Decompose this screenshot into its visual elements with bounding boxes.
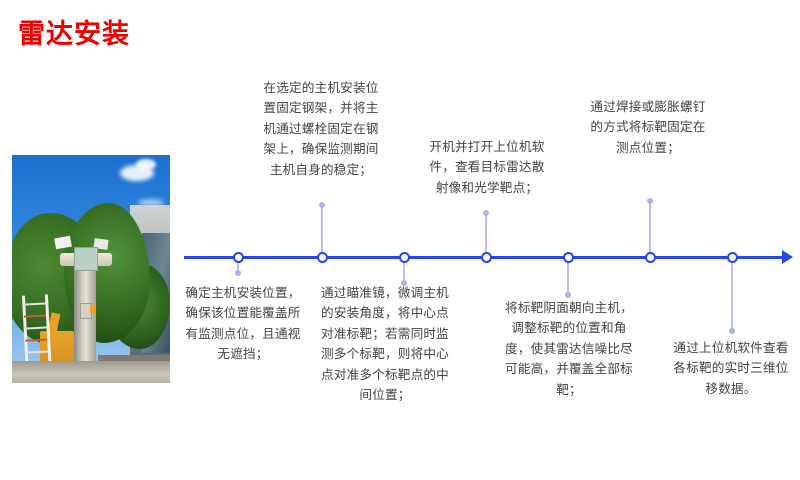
timeline-connector xyxy=(649,201,651,257)
timeline-connector-dot xyxy=(647,198,653,204)
timeline-step-text-3: 通过瞄准镜，微调主机的安装角度，将中心点对准标靶；若需同时监测多个标靶，则将中心… xyxy=(320,283,450,405)
timeline-step-text-5: 将标靶阴面朝向主机，调整标靶的位置和角度，使其雷达信噪比尽可能高，并覆盖全部标靶… xyxy=(500,298,638,400)
page-title: 雷达安装 xyxy=(18,20,130,50)
photo-radar-unit xyxy=(74,247,98,271)
timeline-node-1[interactable] xyxy=(233,252,244,263)
photo-cloud-icon xyxy=(136,159,156,170)
timeline-step-text-6: 通过焊接或膨胀螺钉的方式将标靶固定在测点位置； xyxy=(586,97,710,158)
timeline-step-text-1: 确定主机安装位置，确保该位置能覆盖所有监测点位，且通视无遮挡； xyxy=(184,283,302,365)
arrow-right-icon xyxy=(782,250,793,264)
slide-canvas: 雷达安装 确定主机安 xyxy=(0,0,800,480)
timeline-step-text-7: 通过上位机软件查看各标靶的实时三维位移数据。 xyxy=(668,338,794,399)
timeline-connector-dot xyxy=(729,328,735,334)
timeline-connector-dot xyxy=(483,210,489,216)
timeline-connector-dot xyxy=(235,270,241,276)
timeline-node-3[interactable] xyxy=(399,252,410,263)
timeline-connector xyxy=(731,257,733,331)
timeline-node-6[interactable] xyxy=(645,252,656,263)
timeline-step-text-2: 在选定的主机安装位置固定钢架，并将主机通过螺栓固定在钢架上，确保监测期间主机自身… xyxy=(258,78,384,180)
photo-marker-tab xyxy=(90,305,96,313)
timeline-connector-dot xyxy=(319,202,325,208)
timeline-connector xyxy=(485,213,487,257)
timeline-node-7[interactable] xyxy=(727,252,738,263)
timeline-node-5[interactable] xyxy=(563,252,574,263)
timeline-node-2[interactable] xyxy=(317,252,328,263)
timeline-step-text-4: 开机并打开上位机软件，查看目标雷达散射像和光学靶点； xyxy=(426,137,548,198)
timeline-node-4[interactable] xyxy=(481,252,492,263)
radar-installation-photo xyxy=(12,155,170,383)
photo-ground xyxy=(12,361,170,383)
timeline-connector xyxy=(321,205,323,257)
